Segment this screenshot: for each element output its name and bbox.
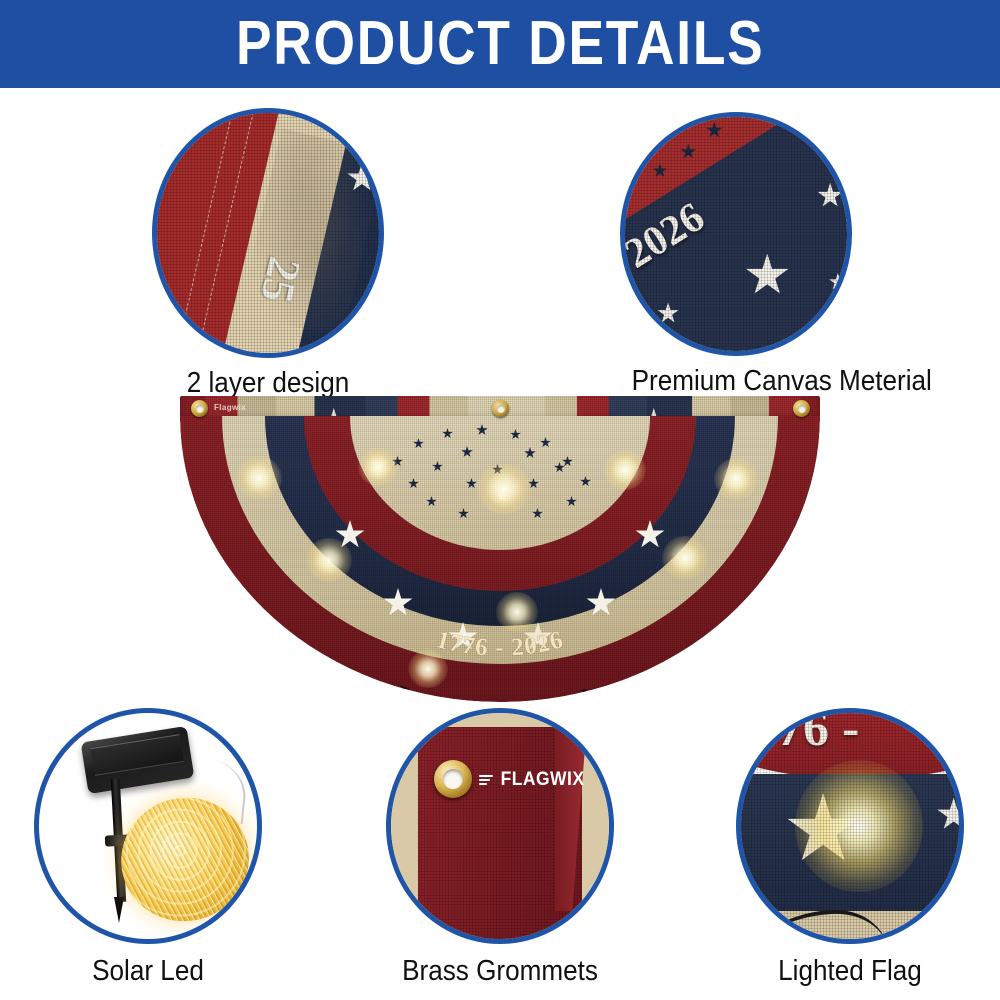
flag-brand-mark: Flagwix xyxy=(214,403,246,412)
flag-fan-body: 1776 - 2026 We The People 250 YEARS OF F… xyxy=(180,416,820,702)
caption-two-layer-design: 2 layer design xyxy=(164,366,373,400)
flag-grommet-left xyxy=(191,400,208,417)
led-glow xyxy=(795,760,923,892)
feature-lighted-flag: 76 - Lighted Flag xyxy=(736,708,964,998)
header-banner: PRODUCT DETAILS xyxy=(0,0,1000,88)
feature-image-solar-led xyxy=(34,708,262,944)
caption-solar-led: Solar Led xyxy=(45,954,250,988)
caption-lighted-flag: Lighted Flag xyxy=(747,954,952,988)
caption-premium-canvas: Premium Canvas Meterial xyxy=(632,364,841,398)
feature-premium-canvas: 2026 Premium Canvas Meterial xyxy=(620,112,852,412)
product-details-infographic: PRODUCT DETAILS 25 2 layer design xyxy=(0,0,1000,1000)
flag-icon xyxy=(479,774,494,787)
brass-grommet xyxy=(434,760,472,798)
flag-grommet-center xyxy=(492,400,509,417)
detail-number-76: 76 - xyxy=(777,708,859,758)
feature-brass-grommets: FLAGWIX Brass Grommets xyxy=(386,708,614,998)
feature-image-two-layer-design: 25 xyxy=(152,108,384,358)
flagwix-logo: FLAGWIX xyxy=(479,769,588,791)
flag-grommet-right xyxy=(793,400,810,417)
page-title: PRODUCT DETAILS xyxy=(236,13,764,75)
feature-image-premium-canvas: 2026 xyxy=(620,112,852,356)
feature-two-layer-design: 25 2 layer design xyxy=(152,108,384,408)
feature-solar-led: Solar Led xyxy=(34,708,262,998)
product-flag-image: 1776 - 2026 We The People 250 YEARS OF F… xyxy=(180,396,820,702)
solar-panel xyxy=(81,726,195,794)
stake-tip xyxy=(114,897,124,923)
feature-image-brass-grommets: FLAGWIX xyxy=(386,708,614,944)
caption-brass-grommets: Brass Grommets xyxy=(397,954,602,988)
feature-image-lighted-flag: 76 - xyxy=(736,708,964,944)
brand-name: FLAGWIX xyxy=(501,769,585,791)
